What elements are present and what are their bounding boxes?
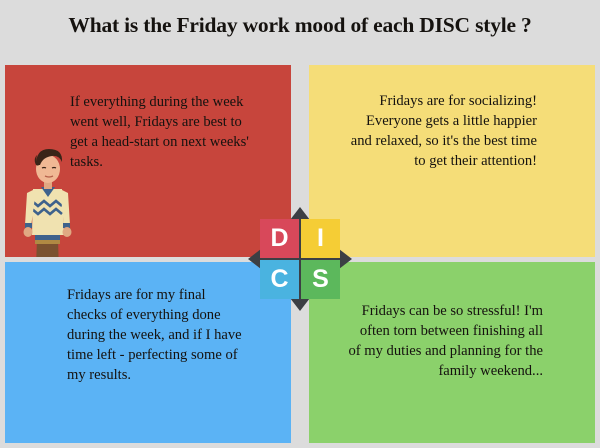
disc-badge-s: S	[301, 260, 340, 299]
disc-letter-grid: D I C S	[260, 219, 340, 299]
infographic-poster: What is the Friday work mood of each DIS…	[0, 0, 600, 448]
arrow-right-icon	[339, 249, 352, 269]
disc-badge-d: D	[260, 219, 299, 258]
quadrant-c-text: Fridays are for my final checks of every…	[67, 286, 247, 386]
arrow-down-icon	[290, 298, 310, 311]
page-title: What is the Friday work mood of each DIS…	[0, 13, 600, 38]
disc-center-diagram: D I C S	[248, 207, 352, 311]
quadrant-i-text: Fridays are for socializing! Everyone ge…	[349, 92, 537, 172]
quadrant-s-text: Fridays can be so stressful! I'm often t…	[347, 302, 543, 382]
disc-badge-i: I	[301, 219, 340, 258]
quadrant-d-text: If everything during the week went well,…	[70, 93, 250, 173]
disc-badge-c: C	[260, 260, 299, 299]
